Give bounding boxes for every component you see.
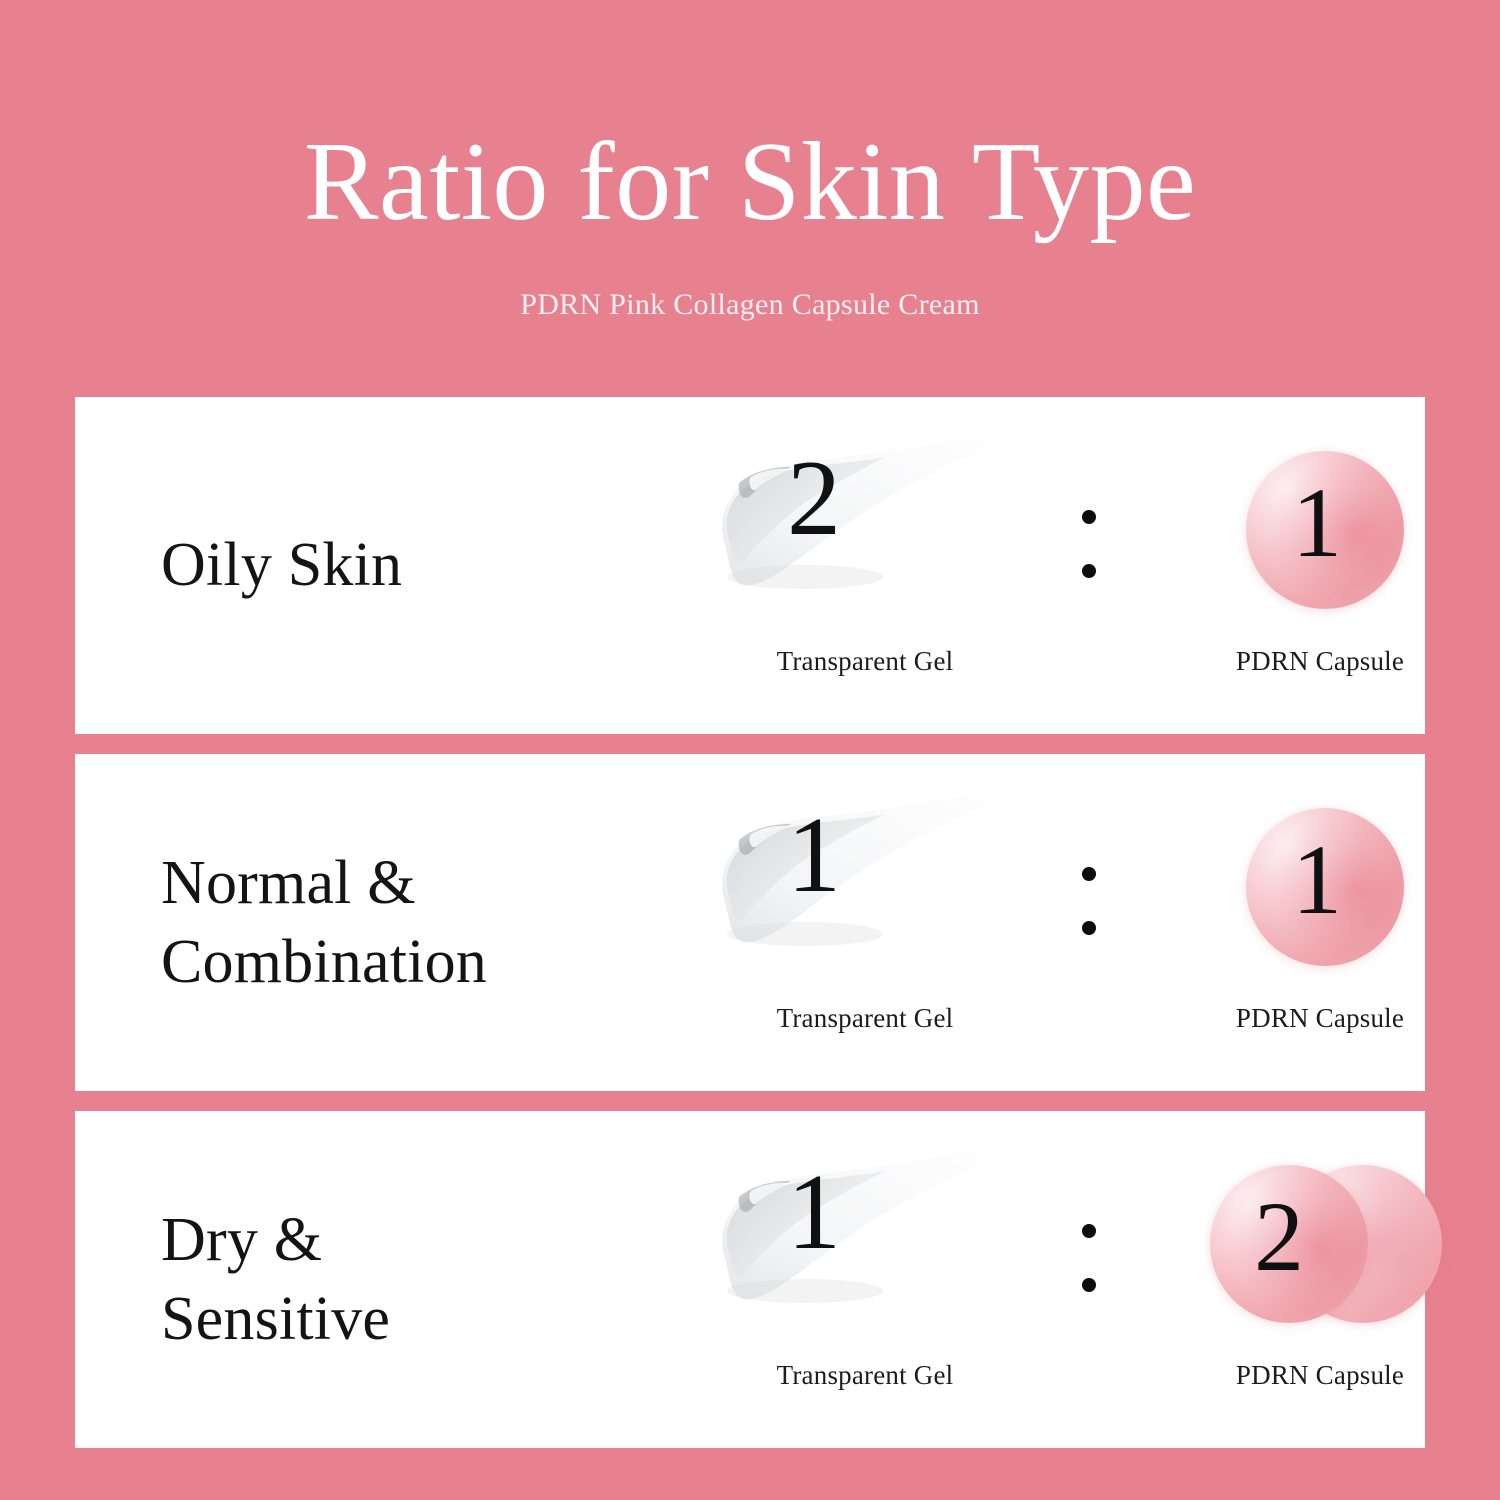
capsule-amount: 2 <box>1254 1187 1304 1287</box>
capsule-bead-group: 1 <box>1188 435 1448 625</box>
gel-ingredient: 1 Transparent Gel <box>695 784 1035 1032</box>
skin-type-card-oily: Oily Skin <box>75 397 1425 734</box>
ratio-group: 1 Transparent Gel 2 PDRN Capsule <box>635 1111 1425 1448</box>
skin-type-label: Normal & Combination <box>161 844 631 1000</box>
page-subtitle: PDRN Pink Collagen Capsule Cream <box>0 290 1500 320</box>
capsule-bead-group: 2 <box>1188 1149 1448 1339</box>
skin-type-label-line: Combination <box>161 923 631 1001</box>
colon-dot-bottom <box>1082 1278 1096 1292</box>
capsule-visual: 2 <box>1150 1141 1490 1346</box>
skin-type-label-line: Sensitive <box>161 1280 631 1358</box>
ratio-group: 1 Transparent Gel 1 PDRN Capsule <box>635 754 1425 1091</box>
colon-dot-bottom <box>1082 921 1096 935</box>
transparent-gel-swatch-icon <box>695 1141 1035 1341</box>
capsule-amount: 1 <box>1292 473 1342 573</box>
skin-type-label: Oily Skin <box>161 526 631 604</box>
skin-type-label-line: Dry & <box>161 1201 631 1279</box>
gel-visual: 2 <box>695 427 1035 632</box>
colon-dot-top <box>1082 867 1096 881</box>
capsule-caption: PDRN Capsule <box>1236 1005 1404 1032</box>
capsule-visual: 1 <box>1150 427 1490 632</box>
skin-type-card-dry-sensitive: Dry & Sensitive <box>75 1111 1425 1448</box>
skin-type-card-list: Oily Skin <box>75 397 1425 1448</box>
skin-type-label: Dry & Sensitive <box>161 1201 631 1357</box>
gel-caption: Transparent Gel <box>777 1362 954 1389</box>
colon-dot-bottom <box>1082 564 1096 578</box>
skin-type-label-line: Normal & <box>161 844 631 922</box>
capsule-amount: 1 <box>1292 830 1342 930</box>
skin-type-card-normal-combination: Normal & Combination <box>75 754 1425 1091</box>
colon-dot-top <box>1082 1224 1096 1238</box>
gel-amount: 1 <box>787 802 841 910</box>
ratio-group: 2 Transparent Gel 1 PDRN Capsule <box>635 397 1425 734</box>
gel-ingredient: 1 Transparent Gel <box>695 1141 1035 1389</box>
gel-visual: 1 <box>695 1141 1035 1346</box>
ratio-separator-icon <box>1081 867 1097 935</box>
ratio-separator-icon <box>1081 1224 1097 1292</box>
capsule-caption: PDRN Capsule <box>1236 648 1404 675</box>
capsule-ingredient: 1 PDRN Capsule <box>1150 427 1490 675</box>
capsule-caption: PDRN Capsule <box>1236 1362 1404 1389</box>
ratio-separator-icon <box>1081 510 1097 578</box>
page-header: Ratio for Skin Type PDRN Pink Collagen C… <box>0 0 1500 320</box>
page-title: Ratio for Skin Type <box>0 126 1500 238</box>
gel-amount: 1 <box>787 1159 841 1267</box>
gel-caption: Transparent Gel <box>777 648 954 675</box>
capsule-ingredient: 2 PDRN Capsule <box>1150 1141 1490 1389</box>
gel-caption: Transparent Gel <box>777 1005 954 1032</box>
gel-amount: 2 <box>787 445 841 553</box>
transparent-gel-swatch-icon <box>695 427 1035 627</box>
gel-ingredient: 2 Transparent Gel <box>695 427 1035 675</box>
gel-visual: 1 <box>695 784 1035 989</box>
skin-type-label-line: Oily Skin <box>161 526 631 604</box>
capsule-visual: 1 <box>1150 784 1490 989</box>
capsule-bead-group: 1 <box>1188 792 1448 982</box>
colon-dot-top <box>1082 510 1096 524</box>
capsule-ingredient: 1 PDRN Capsule <box>1150 784 1490 1032</box>
transparent-gel-swatch-icon <box>695 784 1035 984</box>
